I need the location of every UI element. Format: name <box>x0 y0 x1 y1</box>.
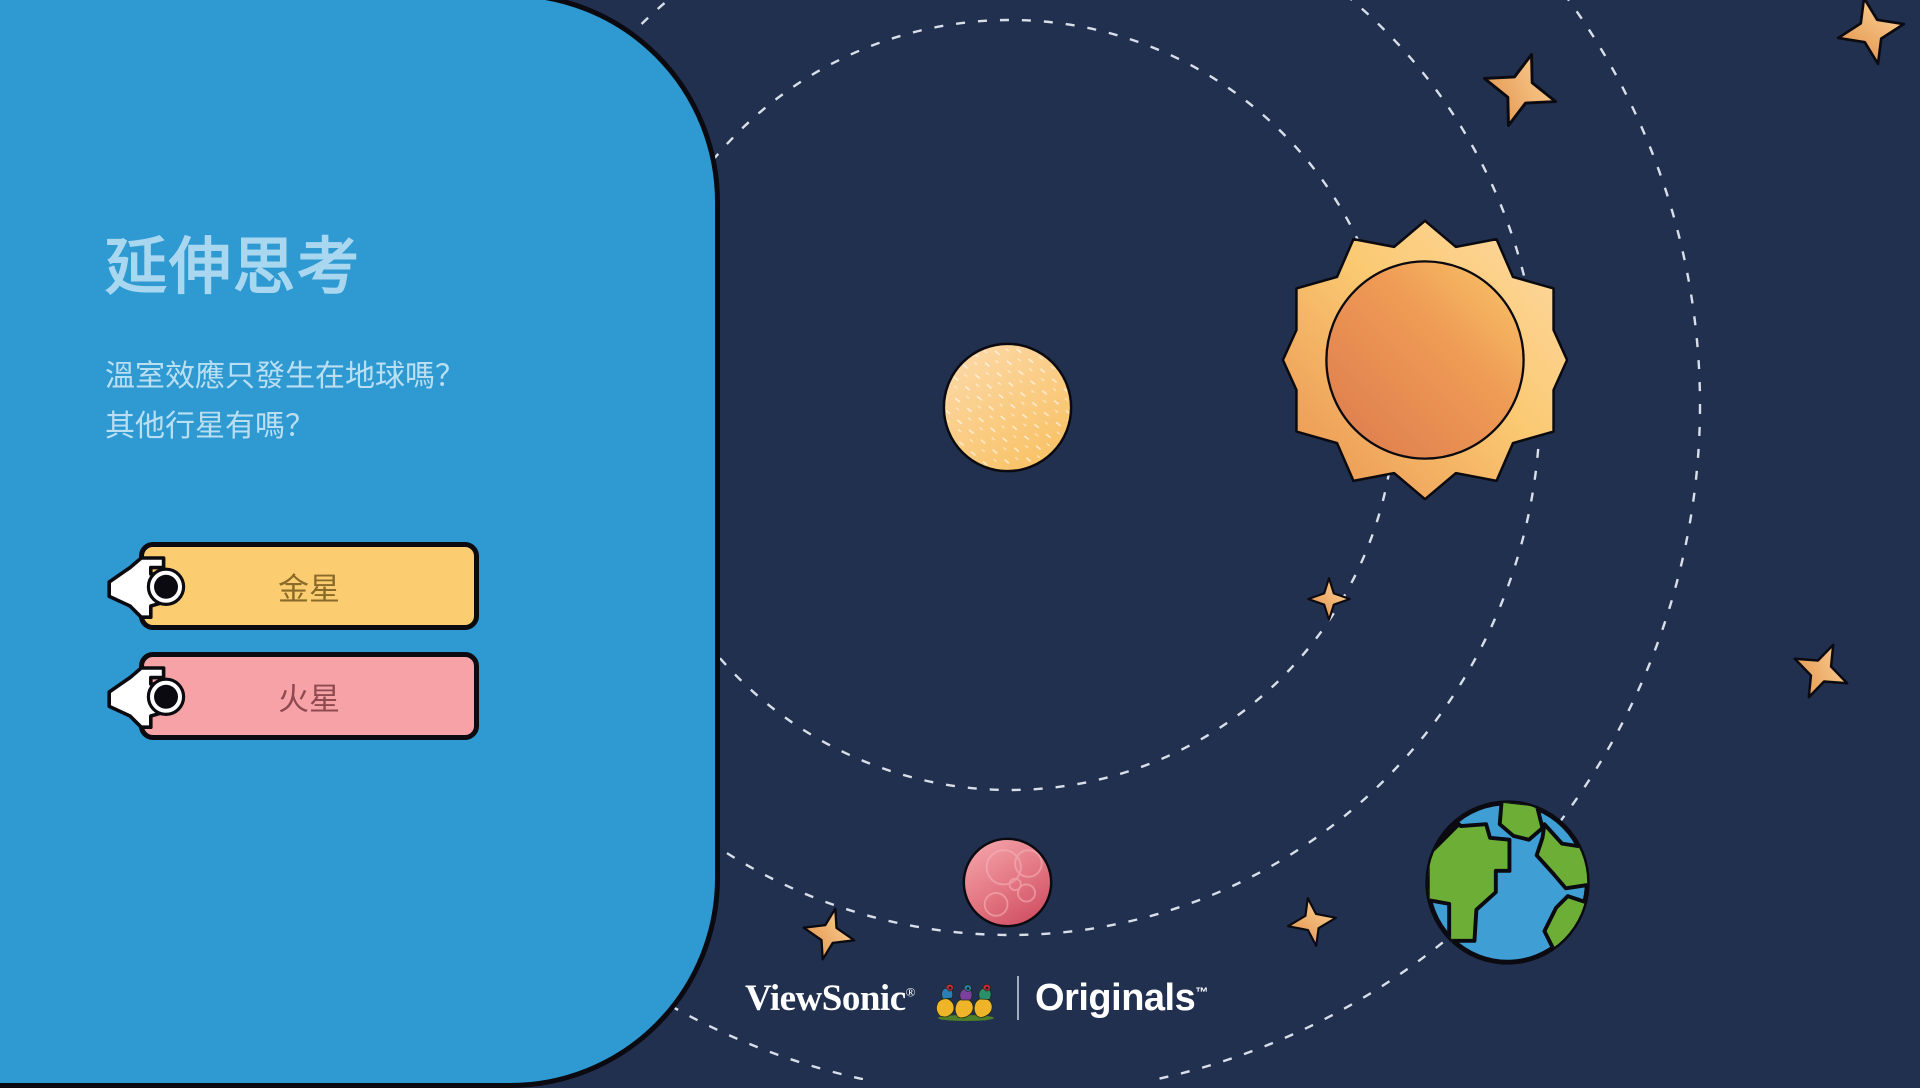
question-line-1: 溫室效應只發生在地球嗎？ <box>105 352 465 402</box>
question-line-2: 其他行星有嗎？ <box>105 402 465 452</box>
page-title: 延伸思考 <box>105 237 361 299</box>
trademark-mark: ™ <box>1195 984 1208 999</box>
answer-label-venus: 金星 <box>278 564 340 609</box>
three-finches-icon <box>931 975 1001 1021</box>
sparkle-icon <box>1835 0 1907 67</box>
answer-options: 金星 火星 <box>105 542 505 762</box>
hand-pointer-icon <box>106 660 202 732</box>
question-text: 溫室效應只發生在地球嗎？ 其他行星有嗎？ <box>105 352 465 451</box>
hand-pointer-icon <box>106 550 202 622</box>
mars-planet-icon <box>960 835 1055 930</box>
sparkle-icon <box>1790 640 1852 702</box>
slide-canvas: 延伸思考 溫室效應只發生在地球嗎？ 其他行星有嗎？ 金星 <box>0 0 1920 1080</box>
earth-planet-icon <box>1420 795 1595 970</box>
answer-label-mars: 火星 <box>278 674 340 719</box>
logo-divider <box>1017 976 1019 1020</box>
answer-button-mars[interactable]: 火星 <box>139 652 479 740</box>
question-panel: 延伸思考 溫室效應只發生在地球嗎？ 其他行星有嗎？ 金星 <box>0 0 720 1088</box>
sparkle-icon <box>1305 575 1353 623</box>
originals-wordmark: Originals™ <box>1035 977 1208 1020</box>
originals-text: Originals <box>1035 977 1195 1019</box>
brand-logo: ViewSonic® <box>745 975 1208 1021</box>
sparkle-icon <box>800 905 858 963</box>
registered-mark: ® <box>906 984 915 999</box>
sun-icon <box>1280 215 1570 505</box>
panel-content: 延伸思考 溫室效應只發生在地球嗎？ 其他行星有嗎？ 金星 <box>105 0 575 1083</box>
answer-button-venus[interactable]: 金星 <box>139 542 479 630</box>
viewsonic-text: ViewSonic <box>745 978 906 1019</box>
sparkle-icon <box>1480 50 1560 130</box>
sparkle-icon <box>1285 895 1339 949</box>
venus-planet-icon <box>940 340 1075 475</box>
viewsonic-wordmark: ViewSonic® <box>745 977 915 1020</box>
